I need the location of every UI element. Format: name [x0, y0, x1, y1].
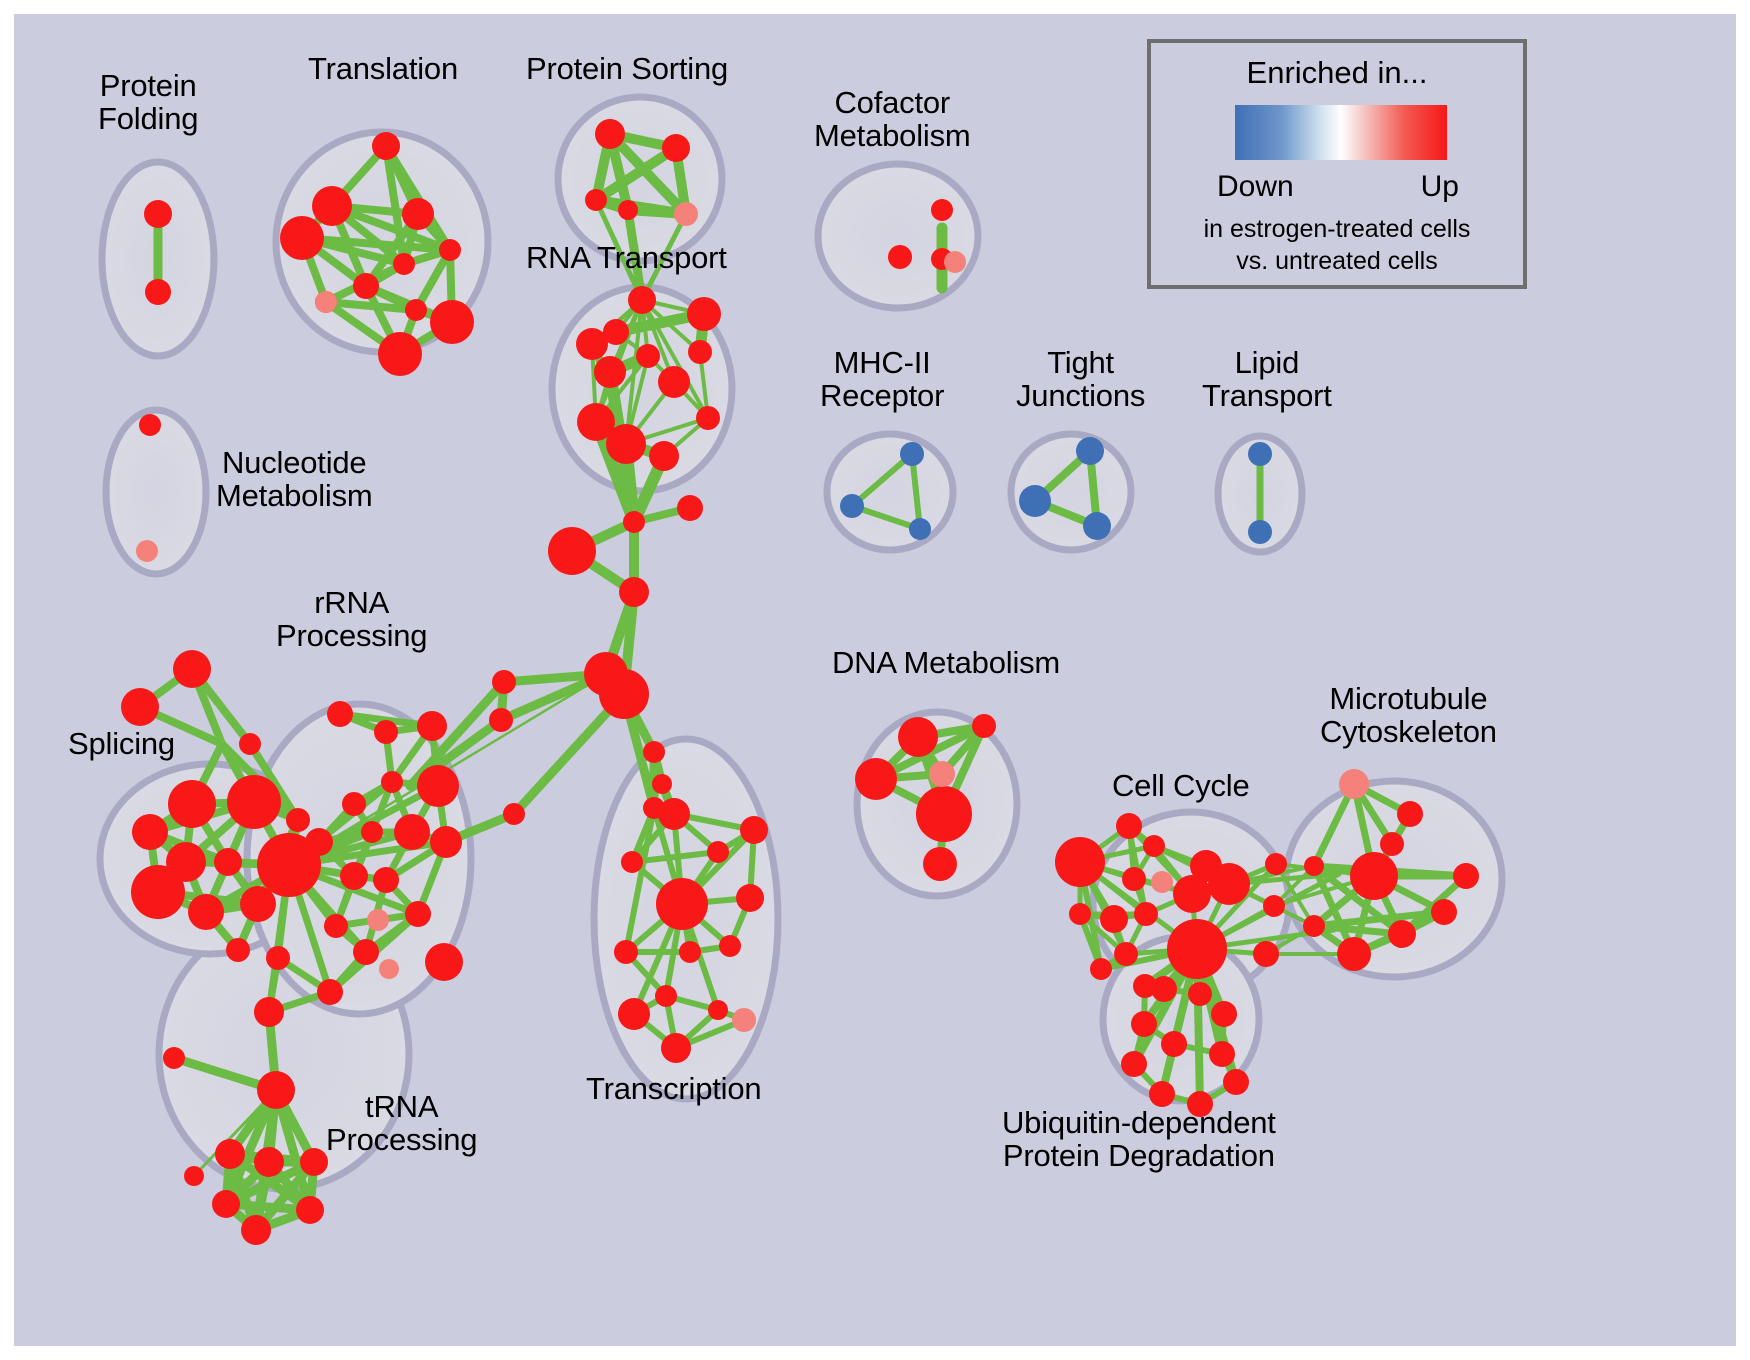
cluster-label-trna-processing: tRNA Processing [326, 1090, 477, 1156]
legend-color-gradient-bar [1235, 105, 1447, 160]
cluster-label-protein-sorting: Protein Sorting [526, 52, 728, 85]
cluster-label-transcription: Transcription [586, 1072, 761, 1105]
cluster-label-cell-cycle: Cell Cycle [1112, 769, 1250, 802]
legend-high-label: Up [1421, 170, 1459, 204]
cluster-label-tight-junctions: Tight Junctions [1016, 346, 1145, 412]
hull-protein-sorting [558, 97, 722, 261]
cluster-label-translation: Translation [308, 52, 458, 85]
figure-canvas: Protein Folding Translation Protein Sort… [0, 0, 1750, 1360]
cluster-label-rrna-processing: rRNA Processing [276, 586, 427, 652]
cluster-label-rna-transport: RNA Transport [526, 241, 727, 274]
cluster-label-cofactor-metabolism: Cofactor Metabolism [814, 86, 971, 152]
cluster-label-microtubule-cytoskeleton: Microtubule Cytoskeleton [1320, 682, 1497, 748]
cluster-label-nucleotide-metabolism: Nucleotide Metabolism [216, 446, 373, 512]
cluster-label-mhc-ii-receptor: MHC-II Receptor [820, 346, 944, 412]
legend-title: Enriched in... [1151, 55, 1523, 91]
network-plot-area: Protein Folding Translation Protein Sort… [14, 14, 1736, 1346]
legend-subtitle-line-1: in estrogen-treated cells [1151, 215, 1523, 244]
cluster-label-ubiquitin-protein-degradation: Ubiquitin-dependent Protein Degradation [1002, 1106, 1276, 1172]
legend-box: Enriched in... Down Up in estrogen-treat… [1147, 39, 1527, 289]
cluster-label-splicing: Splicing [68, 727, 175, 760]
cluster-label-lipid-transport: Lipid Transport [1202, 346, 1332, 412]
cluster-label-protein-folding: Protein Folding [98, 69, 198, 135]
hull-cofactor-metabolism [818, 164, 978, 308]
legend-low-label: Down [1217, 170, 1294, 204]
hull-mhc-ii-receptor [827, 434, 953, 550]
legend-subtitle-line-2: vs. untreated cells [1151, 247, 1523, 276]
cluster-label-dna-metabolism: DNA Metabolism [832, 646, 1060, 679]
